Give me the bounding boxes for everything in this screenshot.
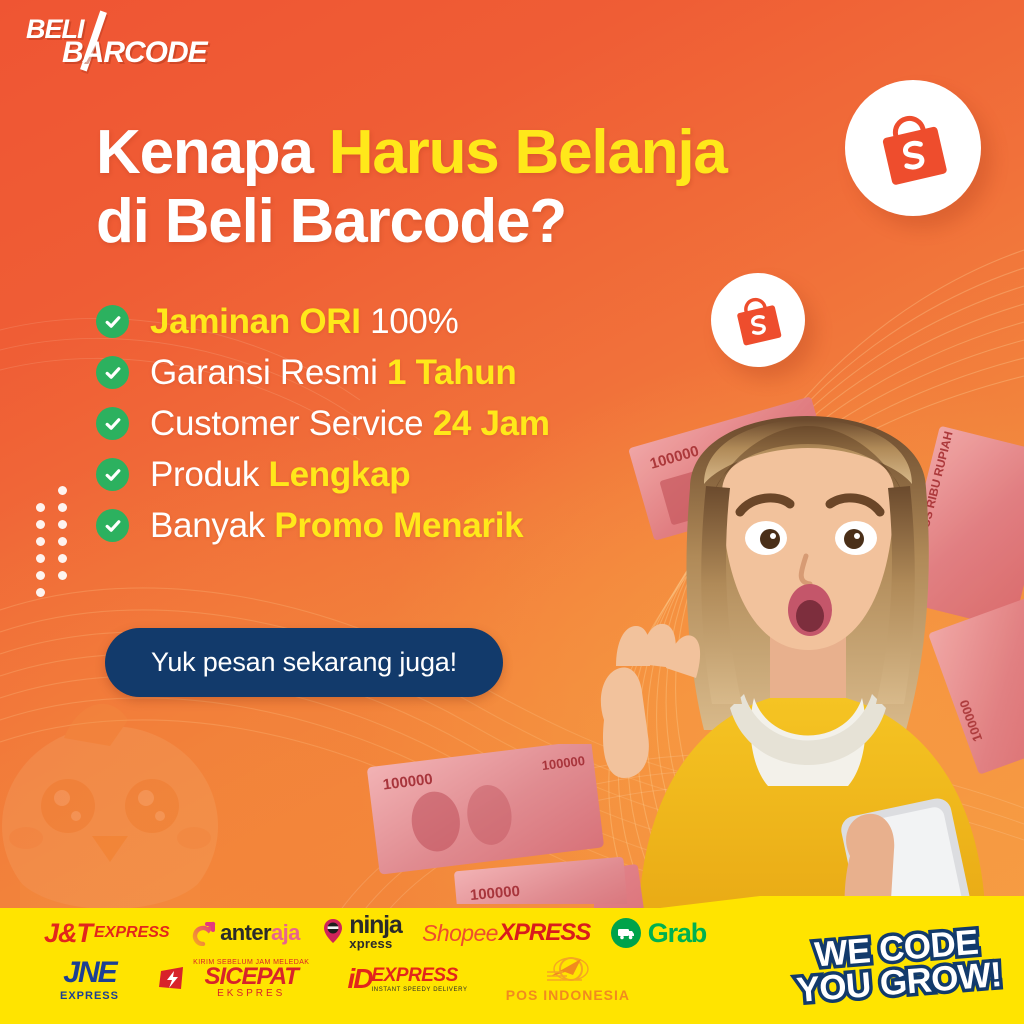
check-circle-icon [96,509,129,542]
courier-logos: J&T EXPRESS anter aja [22,910,712,1002]
ninja-label: ninja [349,915,401,936]
promo-poster: BELI BARCODE Kenapa Harus Belanja di Bel… [0,0,1024,1024]
anteraja-label: anter [220,920,271,946]
courier-logo-jne-express[interactable]: JNE EXPRESS [60,956,119,1002]
benefit-text: Jaminan ORI 100% [150,304,458,339]
check-circle-icon [96,458,129,491]
page-title: Kenapa Harus Belanja di Beli Barcode? [96,118,836,257]
headline-part-1: Kenapa [96,118,329,187]
benefit-highlight: Lengkap [269,455,411,494]
company-slogan: WE CODE YOU GROW! [792,924,1002,1008]
dot-grid-decoration [36,486,72,586]
courier-logo-anteraja[interactable]: anter aja [190,920,300,946]
logo-text-barcode: BARCODE [62,36,207,70]
grab-label: Grab [648,918,706,949]
beli-barcode-logo[interactable]: BELI BARCODE [24,14,214,68]
sicepat-label: SICEPAT [193,966,309,988]
benefit-text: Banyak Promo Menarik [150,508,523,543]
courier-row-1: J&T EXPRESS anter aja [22,910,712,956]
courier-logo-ninja-xpress[interactable]: ninja xpress [320,915,401,951]
benefit-highlight: 1 Tahun [387,353,516,392]
benefit-plain: Customer Service [150,404,433,443]
check-circle-icon [96,305,129,338]
xpress-label: XPRESS [499,919,590,947]
check-circle-icon [96,356,129,389]
shopee-badge-large [845,80,981,216]
jne-label: JNE [63,956,115,990]
sicepat-icon [157,965,187,993]
id-express-mark: iD [348,963,372,995]
chick-mascot-icon [0,686,260,936]
benefit-text: Garansi Resmi 1 Tahun [150,355,516,390]
benefit-highlight: 24 Jam [433,404,550,443]
ninja-pin-icon [320,918,346,948]
anteraja-icon [190,920,216,946]
courier-row-2: JNE EXPRESS KIRIM SEBELUM JAM MELEDAK SI… [22,956,712,1002]
grab-express-icon [611,918,641,948]
banknote-group: 100000 100000 100000 [360,744,640,904]
anteraja-suffix: aja [271,920,300,946]
courier-logo-sicepat[interactable]: KIRIM SEBELUM JAM MELEDAK SICEPAT EKSPRE… [157,959,309,999]
jt-express-label: EXPRESS [94,924,170,942]
id-express-label: EXPRESS [372,965,468,987]
courier-logo-grab-express[interactable]: Grab [611,918,706,949]
courier-logo-jt-express[interactable]: J&T EXPRESS [44,918,170,949]
benefit-highlight: Jaminan ORI [150,302,361,341]
pos-indonesia-icon [547,955,589,987]
shopee-label: Shopee [422,920,498,947]
jne-sub-label: EXPRESS [60,990,119,1002]
benefit-text: Customer Service 24 Jam [150,406,550,441]
pos-indonesia-label: POS INDONESIA [506,987,630,1003]
benefit-plain: Banyak [150,506,274,545]
model-photo: 100000 SERATUS RIBU RUPIAH 100000 [594,316,1024,936]
cta-order-button[interactable]: Yuk pesan sekarang juga! [105,628,503,697]
shopee-bag-icon [863,98,964,199]
headline-part-3: di Beli Barcode? [96,187,566,256]
courier-logo-pos-indonesia[interactable]: POS INDONESIA [506,955,630,1003]
courier-logo-shopee-xpress[interactable]: Shopee XPRESS [422,919,590,947]
benefit-highlight: Promo Menarik [274,506,523,545]
jt-express-mark: J&T [44,918,92,949]
benefit-plain: Garansi Resmi [150,353,387,392]
benefit-tail: 100% [361,302,459,341]
check-circle-icon [96,407,129,440]
benefit-plain: Produk [150,455,269,494]
id-express-tagline: INSTANT SPEEDY DELIVERY [372,987,468,993]
headline-highlight: Harus Belanja [329,118,727,187]
courier-logo-id-express[interactable]: iD EXPRESS INSTANT SPEEDY DELIVERY [348,963,468,995]
benefit-text: Produk Lengkap [150,457,410,492]
footer-bar: J&T EXPRESS anter aja [0,896,1024,1024]
